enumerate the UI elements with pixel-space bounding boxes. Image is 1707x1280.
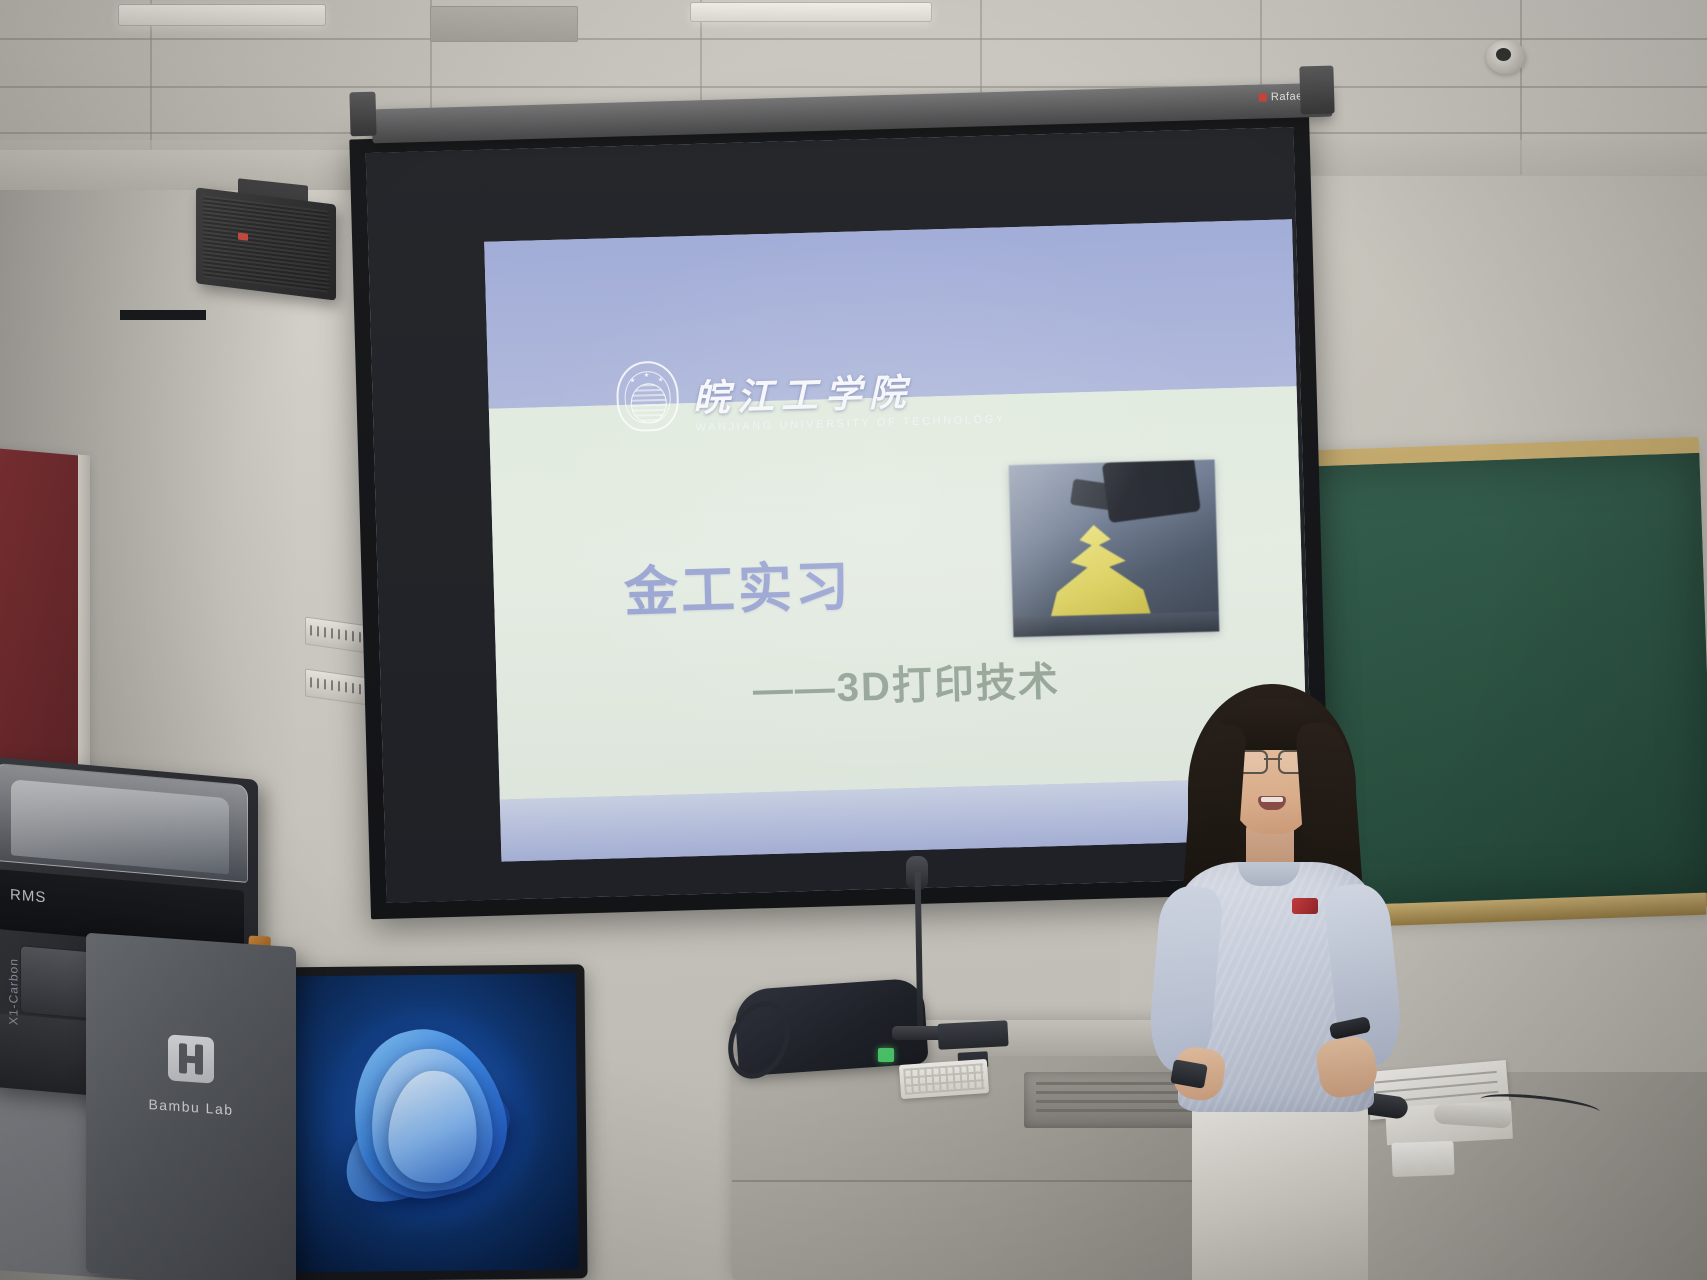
wireless-keyboard[interactable] xyxy=(899,1059,989,1099)
screen-mount-right xyxy=(1299,66,1334,115)
printer-hood xyxy=(0,763,248,883)
wall-speaker xyxy=(196,187,336,300)
remote-control[interactable] xyxy=(937,1020,1008,1050)
speaker-led-icon xyxy=(238,233,248,241)
university-crest-icon xyxy=(616,360,680,432)
bambu-lab-mark-icon xyxy=(168,1034,214,1083)
desktop-monitor[interactable] xyxy=(256,964,587,1280)
white-box xyxy=(1391,1141,1454,1177)
speaker-grille xyxy=(203,195,329,292)
bambu-lab-3d-printer[interactable]: Bambu Lab xyxy=(86,933,296,1280)
printer-side-label: X1-Carbon xyxy=(7,957,21,1025)
presenter-mouth xyxy=(1258,796,1286,810)
status-led-green-icon xyxy=(878,1048,894,1062)
ceiling-light xyxy=(690,2,932,22)
red-wall-panel xyxy=(0,448,84,796)
monitor-screen[interactable] xyxy=(265,973,578,1272)
screen-mount-left xyxy=(349,92,376,137)
ceiling-dome-camera-icon xyxy=(1486,40,1526,74)
presenter-shirt-logo xyxy=(1292,898,1318,914)
ceiling-vent xyxy=(430,6,578,42)
monitor-stand xyxy=(120,310,206,320)
classroom-photo: Rafael 皖江工学院 xyxy=(0,0,1707,1280)
presenter xyxy=(1134,676,1400,1280)
screen-brand-label: Rafael xyxy=(1259,90,1306,103)
bambu-lab-logo: Bambu Lab xyxy=(86,1029,296,1123)
ceiling-light xyxy=(118,4,326,26)
printer-model-label: RMS xyxy=(10,886,46,906)
university-name-cn: 皖江工学院 xyxy=(692,362,913,422)
brand-dot-icon xyxy=(1259,93,1267,101)
presenter-trousers xyxy=(1192,1088,1368,1280)
red-panel-edge xyxy=(78,454,90,785)
bambu-lab-brand-label: Bambu Lab xyxy=(86,1092,296,1123)
slide-photo-3d-print xyxy=(1009,460,1220,638)
slide-subtitle: ——3D打印技术 xyxy=(752,649,1061,716)
slide-title: 金工实习 xyxy=(623,542,853,627)
